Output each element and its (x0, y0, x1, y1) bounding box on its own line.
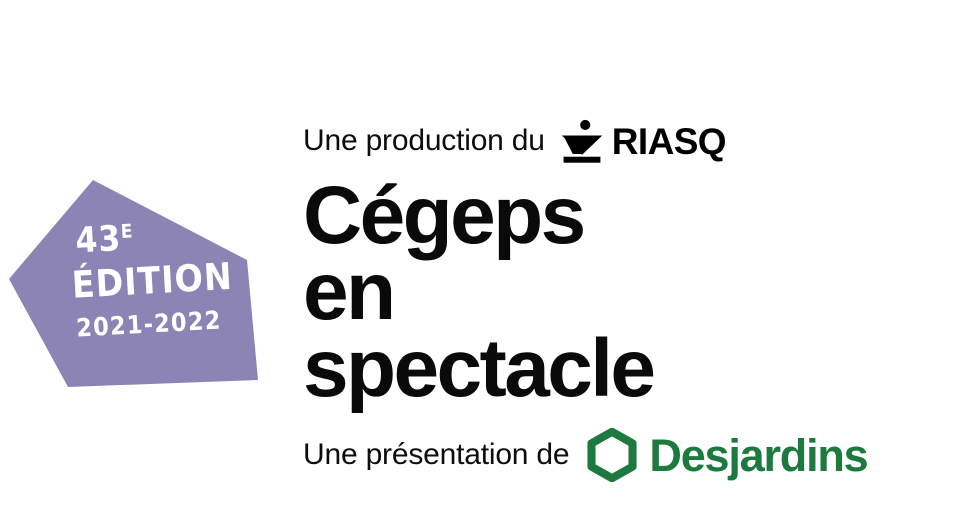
production-label: Une production du (303, 126, 545, 156)
desjardins-wordmark: Desjardins (649, 433, 867, 478)
poster-canvas: 43E ÉDITION 2021-2022 Une production du … (0, 0, 961, 518)
page-title: Cégeps en spectacle (303, 178, 923, 407)
badge-text-block: 43E ÉDITION 2021-2022 (0, 152, 287, 417)
badge-edition-number-suffix: E (120, 220, 133, 243)
badge-years: 2021-2022 (76, 308, 223, 341)
production-credit-line: Une production du RIASQ (303, 120, 726, 162)
edition-badge: 43E ÉDITION 2021-2022 (0, 160, 280, 410)
content-column: Une production du RIASQ Cégeps en specta… (303, 0, 943, 518)
headline-line-3: spectacle (303, 331, 923, 407)
badge-edition-word: ÉDITION (71, 258, 234, 304)
riasq-logo-lockup: RIASQ (559, 118, 726, 164)
riasq-wordmark: RIASQ (612, 123, 726, 160)
presentation-label: Une présentation de (303, 440, 569, 470)
headline-line-1: Cégeps (303, 178, 923, 254)
riasq-figure-icon (559, 119, 605, 165)
badge-edition-number: 43E (75, 221, 134, 259)
desjardins-hexagon-icon (585, 428, 639, 482)
desjardins-logo-lockup: Desjardins (585, 428, 867, 482)
badge-edition-number-value: 43 (74, 219, 122, 261)
presentation-credit-line: Une présentation de Desjardins (303, 428, 868, 482)
headline-line-2: en (303, 254, 923, 330)
